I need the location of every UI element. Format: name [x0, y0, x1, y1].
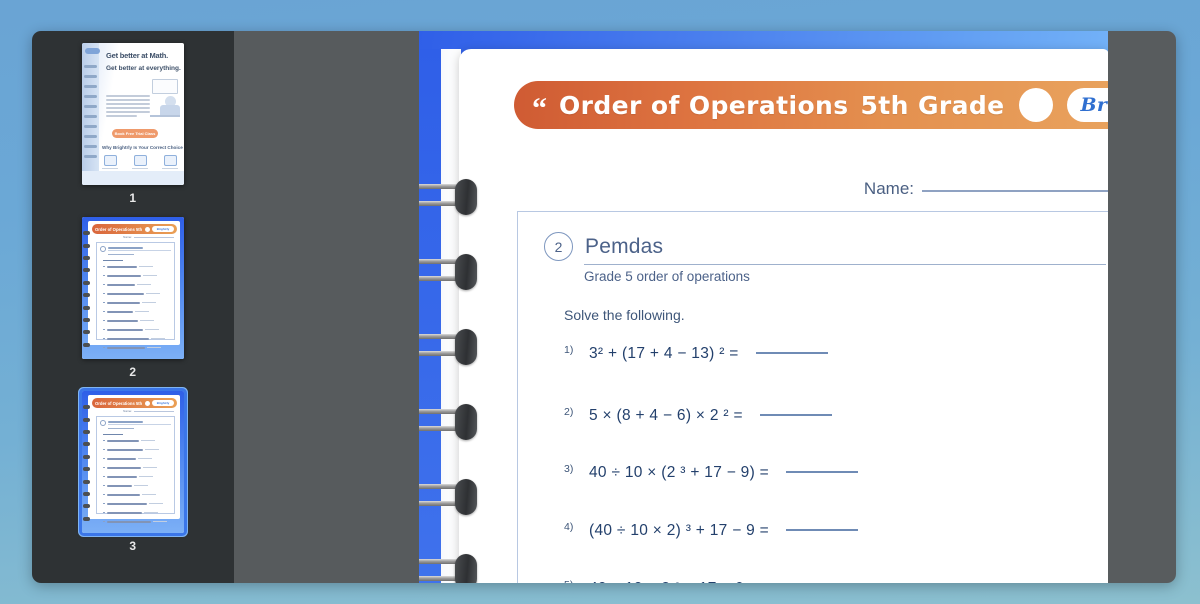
thumb2-content-box [96, 242, 175, 340]
binder-ring [419, 552, 477, 583]
section-number-badge: 2 [544, 232, 573, 261]
worksheet-title-main: Order of Operations [559, 91, 849, 120]
thumb2-spiral-binding [83, 227, 90, 351]
thumbnail-page-1[interactable]: Get better at Math. Get better at everyt… [82, 43, 184, 185]
thumbnail-item-3[interactable]: Order of Operations 5th Grade Brightrly … [32, 391, 234, 553]
thumbnail-number-2: 2 [129, 365, 136, 379]
thumb3-content-box [96, 416, 175, 514]
answer-blank-4[interactable] [786, 529, 858, 531]
problem-number-4: 4) [564, 521, 580, 533]
thumb1-subheadline: Get better at everything. [106, 65, 181, 74]
problem-number-5: 5) [564, 579, 580, 583]
instruction-text: Solve the following. [564, 307, 685, 323]
section-title: Pemdas [585, 235, 663, 259]
worksheet-title: Order of Operations5th Grade [559, 91, 1005, 120]
thumb2-circle-icon [145, 227, 150, 232]
thumbnail-number-1: 1 [129, 191, 136, 205]
section-header: 2 Pemdas [544, 232, 1106, 261]
problem-expression-4: (40 ÷ 10 × 2) ³ + 17 − 9 = [589, 522, 769, 540]
thumb3-circle-icon [145, 401, 150, 406]
page-thumbnail-sidebar[interactable]: Get better at Math. Get better at everyt… [32, 31, 234, 583]
brand-logo-icon [85, 48, 100, 54]
worksheet-content-box: 2 Pemdas Grade 5 order of operations Sol… [517, 211, 1108, 583]
thumb3-name-label: Name: [123, 409, 132, 413]
header-circle-icon [1019, 88, 1053, 122]
thumb1-cta-button[interactable]: Book Free Trial Class [112, 129, 158, 138]
feature-icon-2 [132, 155, 148, 169]
thumbnail-number-3: 3 [129, 539, 136, 553]
problem-expression-1: 3² + (17 + 4 − 13) ² = [589, 345, 739, 363]
thumbnail-item-2[interactable]: Order of Operations 5th Grade Brightrly … [32, 217, 234, 379]
binder-ring [419, 477, 477, 517]
problem-number-1: 1) [564, 344, 580, 356]
problem-row-4: 4) (40 ÷ 10 × 2) ³ + 17 − 9 = [564, 522, 858, 540]
thumb3-brand: Brightrly [152, 400, 174, 406]
thumb2-name-label: Name: [123, 235, 132, 239]
thumbnail-page-3[interactable]: Order of Operations 5th Grade Brightrly … [82, 391, 184, 533]
worksheet-title-grade: 5th Grade [861, 91, 1005, 120]
thumbnail-item-1[interactable]: Get better at Math. Get better at everyt… [32, 43, 234, 205]
thumbnail-page-2[interactable]: Order of Operations 5th Grade Brightrly … [82, 217, 184, 359]
viewer-gutter-left [234, 31, 419, 583]
binder-ring [419, 327, 477, 367]
thumb2-header-title: Order of Operations 5th Grade [95, 227, 143, 232]
thumb1-illustration [142, 79, 180, 119]
answer-blank-2[interactable] [760, 414, 832, 416]
thumb1-feature-icons [102, 155, 178, 169]
thumb3-header-title: Order of Operations 5th Grade [95, 401, 143, 406]
thumb1-headline: Get better at Math. [106, 51, 168, 60]
thumb2-header: Order of Operations 5th Grade Brightrly [92, 224, 177, 234]
answer-blank-1[interactable] [756, 352, 828, 354]
binder-ring [419, 252, 477, 292]
problem-row-5: 5) 40 ÷ 10 × 2 ³ + 17 − 9 = [564, 580, 847, 583]
document-viewer: Get better at Math. Get better at everyt… [32, 31, 1176, 583]
worksheet-header-bar: “ Order of Operations5th Grade [514, 81, 1108, 129]
feature-icon-1 [102, 155, 118, 169]
problem-row-3: 3) 40 ÷ 10 × (2 ³ + 17 − 9) = [564, 464, 858, 482]
problem-expression-5: 40 ÷ 10 × 2 ³ + 17 − 9 = [589, 580, 758, 583]
answer-blank-3[interactable] [786, 471, 858, 473]
thumb2-brand: Brightrly [152, 226, 174, 232]
worksheet-page: “ Order of Operations5th Grade [459, 49, 1108, 583]
thumb1-footer [82, 171, 184, 185]
feature-icon-3 [162, 155, 178, 169]
thumb1-section-label: Why Brightrly Is Your Correct Choice [102, 145, 183, 150]
brand-badge[interactable]: Brightrly [1067, 88, 1108, 122]
thumb3-spiral-binding [83, 401, 90, 525]
problem-row-2: 2) 5 × (8 + 4 − 6) × 2 ² = [564, 407, 832, 425]
problem-number-3: 3) [564, 463, 580, 475]
thumb3-header: Order of Operations 5th Grade Brightrly [92, 398, 177, 408]
thumb1-cta-label: Book Free Trial Class [112, 129, 158, 138]
viewer-gutter-right [1108, 31, 1176, 583]
section-subtitle: Grade 5 order of operations [584, 269, 750, 284]
binder-ring [419, 177, 477, 217]
binder-ring [419, 402, 477, 442]
brand-name: Brightrly [1081, 94, 1108, 116]
problem-expression-3: 40 ÷ 10 × (2 ³ + 17 − 9) = [589, 464, 769, 482]
name-input-line[interactable] [922, 190, 1108, 192]
problem-row-1: 1) 3² + (17 + 4 − 13) ² = [564, 345, 828, 363]
name-label: Name: [864, 179, 914, 199]
problem-expression-2: 5 × (8 + 4 − 6) × 2 ² = [589, 407, 743, 425]
section-underline [584, 264, 1106, 265]
document-stage[interactable]: “ Order of Operations5th Grade [419, 31, 1108, 583]
spiral-binding [419, 49, 489, 583]
name-field-row[interactable]: Name: [514, 179, 1108, 199]
problem-number-2: 2) [564, 406, 580, 418]
